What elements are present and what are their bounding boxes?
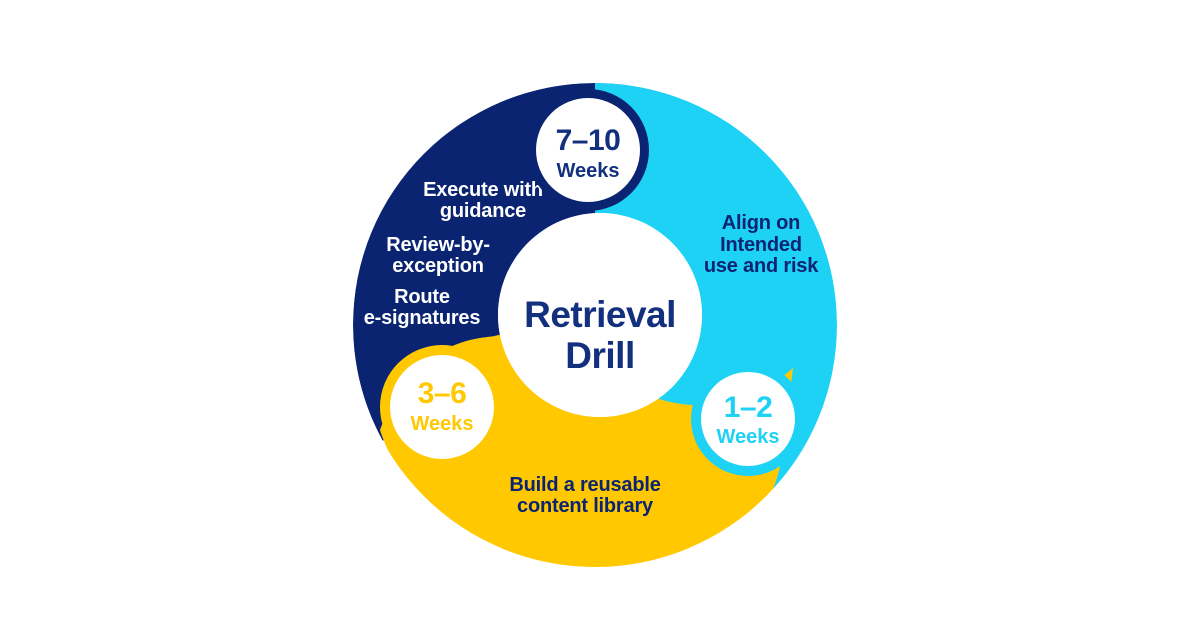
badge-1-2-weeks[interactable]: 1–2 Weeks — [691, 362, 805, 476]
badge-3-6-weeks-unit: Weeks — [410, 413, 473, 435]
center-title-line2: Drill — [565, 335, 634, 376]
segment-execute-line-6: e-signatures — [364, 307, 481, 329]
badge-7-10-weeks-value: 7–10 — [556, 124, 621, 157]
badge-1-2-weeks-unit: Weeks — [716, 426, 779, 448]
badge-1-2-weeks-value: 1–2 — [724, 391, 773, 424]
badge-7-10-weeks[interactable]: 7–10 Weeks — [527, 89, 649, 211]
segment-align-line-3: use and risk — [704, 255, 819, 277]
badge-7-10-weeks-unit: Weeks — [556, 160, 619, 182]
center-title-line1: Retrieval — [524, 294, 676, 335]
segment-execute-line-3: Review-by- — [386, 234, 490, 256]
badge-3-6-weeks-value: 3–6 — [418, 377, 467, 410]
badge-3-6-weeks[interactable]: 3–6 Weeks — [380, 345, 504, 469]
segment-execute-line-5: Route — [394, 286, 450, 308]
segment-align-line-1: Align on — [722, 212, 800, 234]
segment-library-line-2: content library — [517, 495, 654, 517]
segment-execute-line-4: exception — [392, 255, 484, 277]
diagram-canvas: Retrieval Drill Execute with guidance Re… — [0, 0, 1200, 630]
segment-execute-line-1: Execute with — [423, 179, 543, 201]
retrieval-drill-cycle-diagram: Retrieval Drill Execute with guidance Re… — [0, 0, 1200, 630]
segment-align-line-2: Intended — [720, 234, 802, 256]
segment-library-line-1: Build a reusable — [509, 474, 660, 496]
segment-execute-line-2: guidance — [440, 200, 526, 222]
